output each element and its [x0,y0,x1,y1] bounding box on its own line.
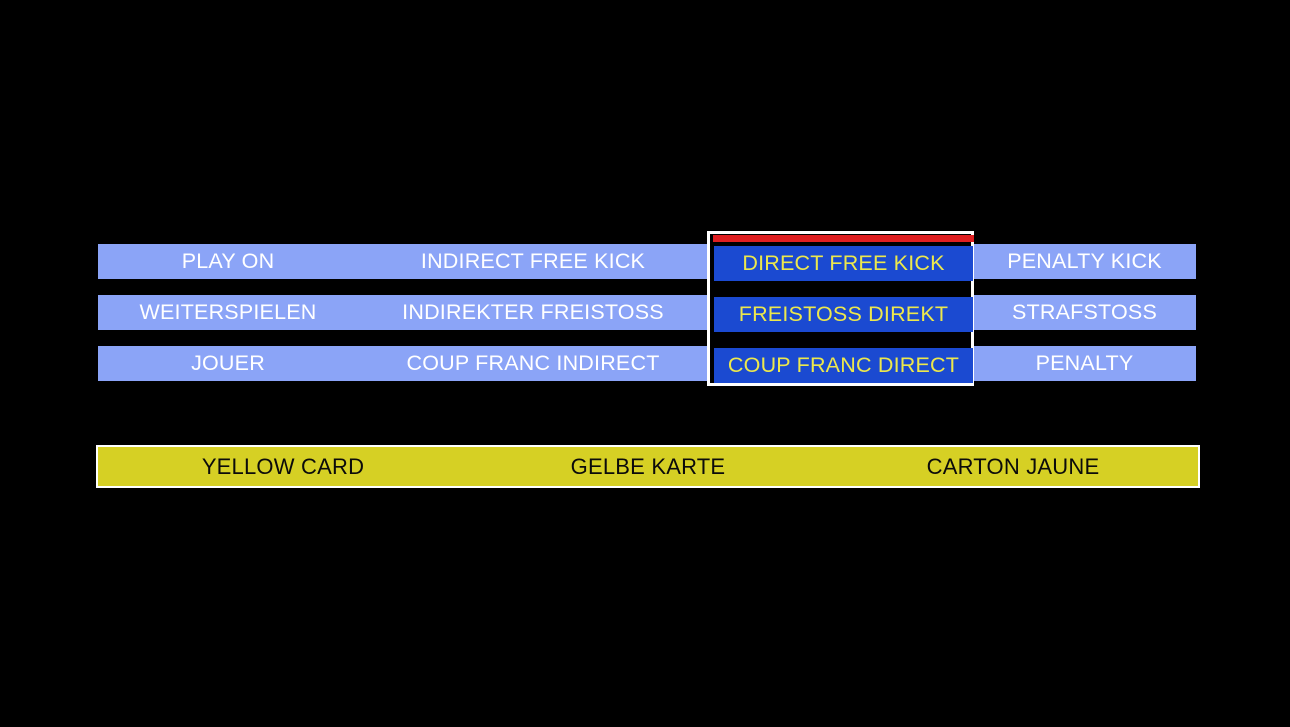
table-row: WEITERSPIELEN INDIREKTER FREISTOSS FREIS… [98,295,1196,330]
selected-cell-direct-free-kick-en[interactable]: DIRECT FREE KICK [714,246,973,281]
signal-cell-play-on-fr[interactable]: JOUER [98,346,358,381]
signal-cell-penalty-kick-de[interactable]: STRAFSTOSS [973,295,1196,330]
signal-cell-indirect-free-kick-fr[interactable]: COUP FRANC INDIRECT [358,346,708,381]
selected-cell-direct-free-kick-de[interactable]: FREISTOSS DIREKT [714,297,973,332]
selected-column-highlight[interactable]: DIRECT FREE KICK FREISTOSS DIREKT COUP F… [707,231,974,386]
yellow-card-bar[interactable]: YELLOW CARD GELBE KARTE CARTON JAUNE [96,445,1200,488]
card-label-fr[interactable]: CARTON JAUNE [828,447,1198,486]
signal-cell-play-on-en[interactable]: PLAY ON [98,244,358,279]
signal-cell-penalty-kick-en[interactable]: PENALTY KICK [973,244,1196,279]
table-row: PLAY ON INDIRECT FREE KICK DIRECT FREE K… [98,244,1196,279]
signal-cell-indirect-free-kick-en[interactable]: INDIRECT FREE KICK [358,244,708,279]
card-label-en[interactable]: YELLOW CARD [98,447,468,486]
signal-cell-indirect-free-kick-de[interactable]: INDIREKTER FREISTOSS [358,295,708,330]
card-label-de[interactable]: GELBE KARTE [468,447,828,486]
slide-canvas: PLAY ON INDIRECT FREE KICK DIRECT FREE K… [0,0,1290,727]
selected-cell-direct-free-kick-fr[interactable]: COUP FRANC DIRECT [714,348,973,383]
referee-signal-table: PLAY ON INDIRECT FREE KICK DIRECT FREE K… [98,244,1196,381]
selection-marker-bar [713,235,974,242]
signal-cell-play-on-de[interactable]: WEITERSPIELEN [98,295,358,330]
table-row: JOUER COUP FRANC INDIRECT COUP FRANC DIR… [98,346,1196,381]
signal-cell-penalty-kick-fr[interactable]: PENALTY [973,346,1196,381]
